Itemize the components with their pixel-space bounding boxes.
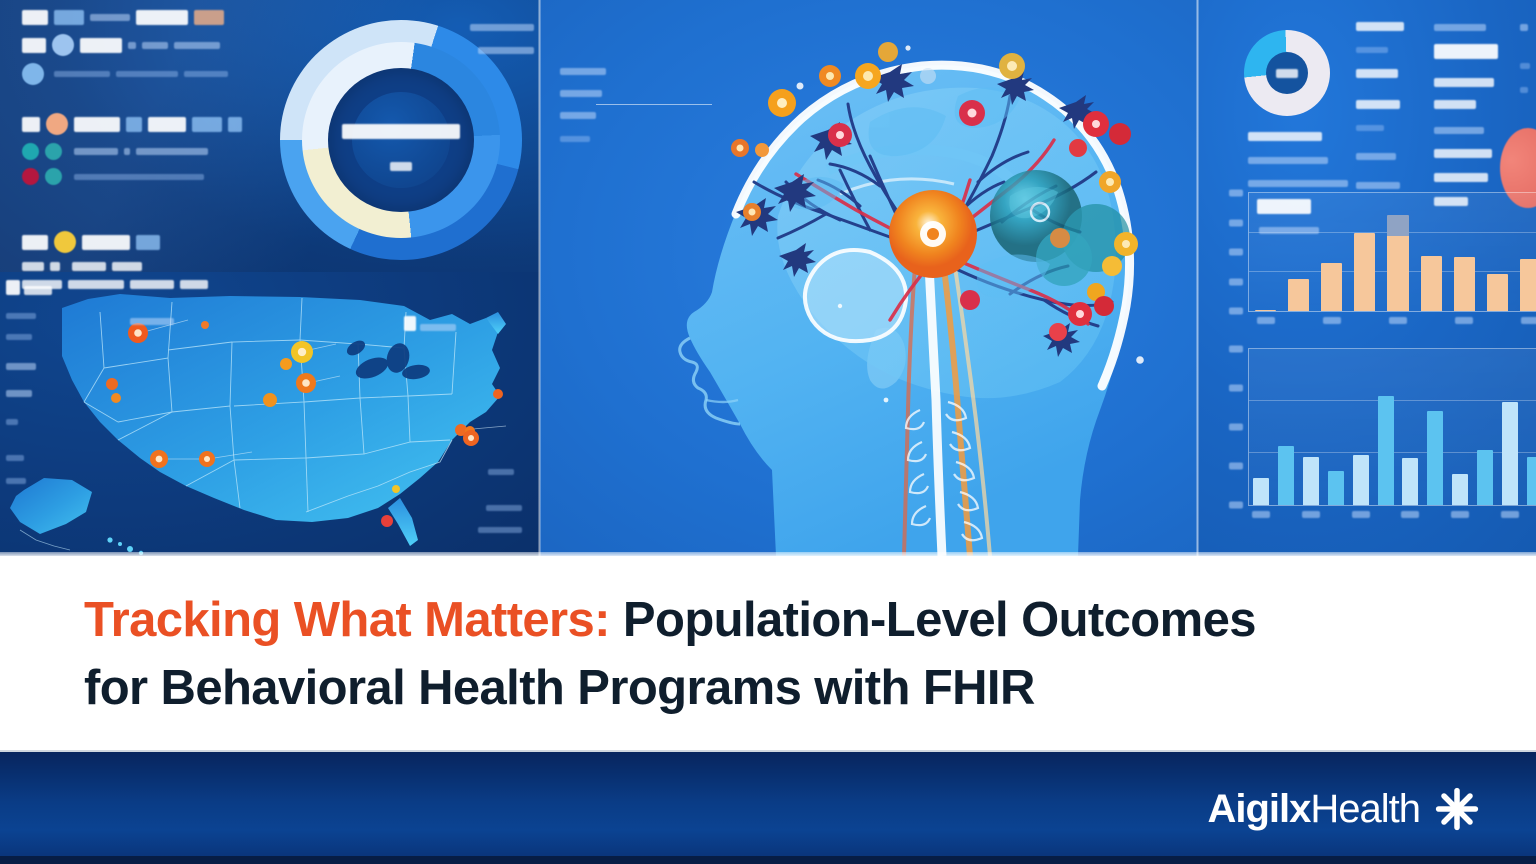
glyph-block [74,117,120,132]
bar[interactable] [1253,478,1269,505]
glyph-block [1520,63,1530,69]
hero-image [0,0,1536,556]
bar[interactable] [1487,274,1508,311]
map-marker[interactable] [111,393,121,403]
brand-logo[interactable]: AigilxHealth [1207,786,1480,832]
glyph-block [486,505,522,511]
glyph-block [1434,173,1488,182]
glyph-block [1248,180,1348,187]
glyph-block [390,162,412,171]
map-marker[interactable] [280,358,292,370]
bar[interactable] [1452,474,1468,505]
glyph-block [142,42,168,49]
x-tick-label [1252,511,1270,518]
map-marker-core [156,456,163,463]
glyph-block [1520,24,1528,31]
y-tick-label [1229,278,1243,285]
glyph-block [22,117,40,132]
y-tick-label [1229,346,1243,353]
map-marker-core [468,435,474,441]
panel-divider-right [1196,0,1199,556]
headline-rest-line2: for Behavioral Health Programs with FHIR [84,661,1035,715]
glyph-block [470,24,534,31]
hero-panel-right [1198,0,1536,556]
y-tick-label [1229,424,1243,431]
bar[interactable] [1354,233,1375,311]
glyph-block [82,235,130,250]
bar[interactable] [1477,450,1493,505]
x-tick-label [1389,317,1407,324]
glyph-block [488,469,514,475]
y-tick-label [1229,502,1243,509]
right-donut-chart[interactable] [1244,30,1330,116]
x-tick-label [1401,511,1419,518]
headline-rest-line1: Population-Level Outcomes [610,593,1256,647]
glyph-block [1434,149,1492,158]
glyph-block [1434,44,1498,59]
map-marker-core [302,379,310,387]
kpi-dashboard-board [0,0,540,272]
glyph-block [1356,182,1400,189]
glyph-block [1356,100,1400,109]
glyph-block [1356,125,1384,131]
glyph-block [72,262,106,271]
glyph-block [50,262,60,271]
chart-subtitle [1259,221,1319,239]
glyph-block [124,148,130,155]
map-marker[interactable] [201,321,209,329]
glyph-block [1248,157,1328,164]
donut-center-label [276,124,526,176]
map-marker[interactable] [263,393,277,407]
asterisk-starburst-icon [1434,786,1480,832]
headline-highlight: Tracking What Matters: [84,593,610,647]
glyph-block [128,42,136,49]
center-annotation [560,62,720,147]
glyph-block [22,10,48,25]
y-tick-label [1229,219,1243,226]
annotation-leader-line [596,104,712,105]
right-stats-column-2 [1434,18,1530,211]
glyph-block [54,71,110,77]
x-tick-label [1451,511,1469,518]
map-marker-core [134,329,142,337]
central-node-icon [889,190,977,278]
hero-panel-left [0,0,540,556]
glyph-block [54,10,84,25]
bar[interactable] [1353,455,1369,505]
bar[interactable] [1321,263,1342,311]
glyph-block [74,148,118,155]
glyph-block [22,262,44,271]
glyph-block [478,527,522,533]
legend-swatch-5 [22,143,39,160]
hero-bottom-edge [0,552,1536,556]
glyph-block [1434,197,1468,206]
glyph-block [404,316,416,331]
glyph-block [1248,132,1322,141]
hero-panel-center [540,0,1198,556]
glyph-block [560,68,606,75]
glyph-block [1356,69,1398,78]
bar[interactable] [1378,396,1394,505]
bar[interactable] [1255,310,1276,311]
glyph-block [1520,87,1528,93]
glyph-block [1276,69,1298,78]
x-tick-label [1302,511,1320,518]
title-band: Tracking What Matters: Population-Level … [0,556,1536,750]
glyph-block [22,235,48,250]
glyph-block [126,117,142,132]
glyph-block [112,262,142,271]
glyph-block [1259,227,1319,234]
glyph-block [228,117,242,132]
bar[interactable] [1387,215,1408,311]
x-tick-label [1323,317,1341,324]
bar[interactable] [1288,279,1309,311]
legend-swatch-6 [22,168,39,185]
bar[interactable] [1402,458,1418,505]
glyph-block [1434,127,1484,134]
map-marker[interactable] [106,378,118,390]
glyph-block [1356,153,1396,160]
glyph-block [1356,22,1404,31]
y-tick-label [1229,385,1243,392]
bar[interactable] [1502,402,1518,505]
legend-swatch-4 [46,113,68,135]
brand-suffix: Health [1310,787,1420,831]
glyph-block [1356,47,1388,53]
map-attribution [478,498,522,538]
glyph-block [74,174,204,180]
glyph-block [90,14,130,21]
map-marker-core [298,348,306,356]
legend-swatch-8 [54,231,76,253]
glyph-block [80,38,122,53]
glyph-block [1434,24,1486,31]
y-tick-label [1229,308,1243,315]
map-tooltip-label [130,312,174,330]
glyph-block [420,324,456,331]
y-tick-label [1229,249,1243,256]
glyph-block [130,318,174,325]
x-tick-label [1352,511,1370,518]
glyph-block [116,71,178,77]
bar[interactable] [1303,457,1319,505]
map-footnote [488,462,514,480]
bar[interactable] [1427,411,1443,505]
glyph-block [1257,199,1311,214]
slide-headline: Tracking What Matters: Population-Level … [84,586,1476,722]
right-lower-bar-chart[interactable] [1248,348,1536,506]
glyph-block [174,42,220,49]
glyph-block [136,148,208,155]
glyph-block [560,112,596,119]
bar[interactable] [1454,257,1475,311]
map-marker[interactable] [392,485,400,493]
glyph-block [1434,78,1494,87]
map-marker[interactable] [493,389,503,399]
bar[interactable] [1278,446,1294,505]
donut-caption [470,18,534,59]
map-marker[interactable] [381,515,393,527]
y-tick-label [1229,463,1243,470]
brand-wordmark: AigilxHealth [1207,787,1420,832]
bar[interactable] [1527,457,1536,505]
glyph-block [478,47,534,54]
glyph-block [194,10,224,25]
glyph-block [22,38,46,53]
panel-divider-left [538,0,541,556]
glyph-block [342,124,460,139]
glyph-block [1434,100,1476,109]
right-donut-caption [1248,128,1348,192]
glyph-block [192,117,222,132]
brand-prefix: Aigilx [1207,787,1310,831]
map-marker-core [204,456,210,462]
bar[interactable] [1421,256,1442,311]
x-tick-label [1455,317,1473,324]
glyph-block [560,136,590,142]
bar[interactable] [1328,471,1344,505]
glyph-block [136,10,188,25]
glyph-block [184,71,228,77]
glyph-block [148,117,186,132]
legend-swatch-5b [45,143,62,160]
glyph-block [136,235,160,250]
plot-area [1249,349,1536,505]
right-stats-column-1 [1356,18,1436,194]
legend-swatch-2 [22,63,44,85]
glyph-block [560,90,602,97]
legend-swatch-1 [52,34,74,56]
x-tick-label [1521,317,1536,324]
slide-canvas: Tracking What Matters: Population-Level … [0,0,1536,864]
chart-title [1257,199,1311,219]
map-badge [404,316,456,336]
bar[interactable] [1520,259,1536,311]
right-stats-column-3 [1520,18,1536,98]
legend-swatch-6b [45,168,62,185]
x-tick-label [1257,317,1275,324]
map-bubble-markers[interactable] [0,272,540,556]
y-tick-label [1229,190,1243,197]
x-tick-label [1501,511,1519,518]
us-map-board[interactable] [0,272,540,556]
donut-value-label [1244,30,1330,116]
footer-bar: AigilxHealth [0,750,1536,864]
